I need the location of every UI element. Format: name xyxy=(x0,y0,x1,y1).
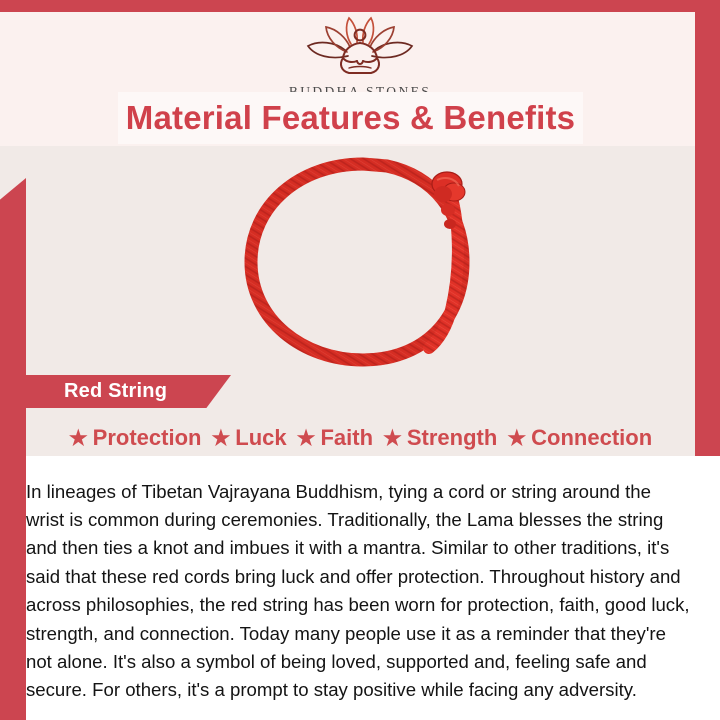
feature-label: Luck xyxy=(235,425,286,451)
lotus-meditation-icon xyxy=(0,16,720,83)
feature-label: Protection xyxy=(93,425,202,451)
feature-item-strength: ★ Strength xyxy=(379,425,501,451)
section-banner-label: Red String xyxy=(64,380,167,403)
feature-label: Strength xyxy=(407,425,497,451)
star-icon: ★ xyxy=(507,428,526,449)
section-banner: Red String xyxy=(26,375,231,408)
product-image xyxy=(26,150,695,372)
feature-item-protection: ★ Protection xyxy=(65,425,206,451)
feature-label: Faith xyxy=(320,425,373,451)
feature-list: ★ Protection ★ Luck ★ Faith ★ Strength ★… xyxy=(26,420,695,456)
feature-item-luck: ★ Luck xyxy=(207,425,290,451)
star-icon: ★ xyxy=(383,428,402,449)
description-text: In lineages of Tibetan Vajrayana Buddhis… xyxy=(26,478,694,705)
star-icon: ★ xyxy=(297,428,316,449)
feature-item-faith: ★ Faith xyxy=(293,425,377,451)
feature-label: Connection xyxy=(531,425,652,451)
star-icon: ★ xyxy=(211,428,230,449)
page-title: Material Features & Benefits xyxy=(126,99,575,137)
left-red-border xyxy=(0,178,26,720)
feature-item-connection: ★ Connection xyxy=(503,425,656,451)
page-title-band: Material Features & Benefits xyxy=(118,92,583,144)
top-red-border xyxy=(0,0,720,12)
description-panel: In lineages of Tibetan Vajrayana Buddhis… xyxy=(26,456,720,720)
brand-logo: BUDDHA STONES xyxy=(0,16,720,100)
star-icon: ★ xyxy=(69,428,88,449)
infographic-page: BUDDHA STONES Material Features & Benefi… xyxy=(0,0,720,720)
